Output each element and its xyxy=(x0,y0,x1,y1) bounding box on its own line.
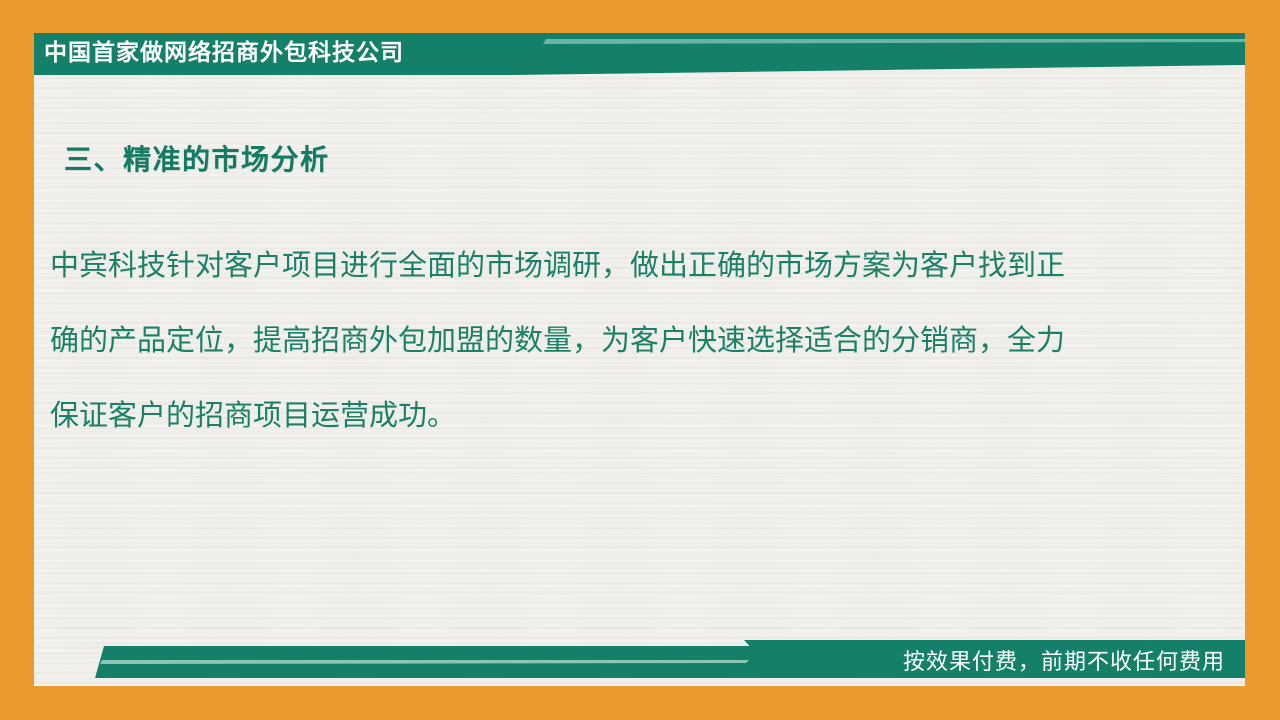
header-company-tagline: 中国首家做网络招商外包科技公司 xyxy=(44,38,404,68)
page-title: 三、精准的市场分析 xyxy=(64,138,330,178)
body-line: 中宾科技针对客户项目进行全面的市场调研，做出正确的市场方案为客户找到正 xyxy=(50,228,1185,303)
body-line: 保证客户的招商项目运营成功。 xyxy=(50,378,1185,453)
footer-slogan: 按效果付费，前期不收任何费用 xyxy=(903,648,1225,678)
presentation-slide: 中国首家做网络招商外包科技公司 三、精准的市场分析 中宾科技针对客户项目进行全面… xyxy=(0,0,1280,720)
body-line: 确的产品定位，提高招商外包加盟的数量，为客户快速选择适合的分销商，全力 xyxy=(50,303,1185,378)
body-paragraph: 中宾科技针对客户项目进行全面的市场调研，做出正确的市场方案为客户找到正 确的产品… xyxy=(50,228,1185,453)
